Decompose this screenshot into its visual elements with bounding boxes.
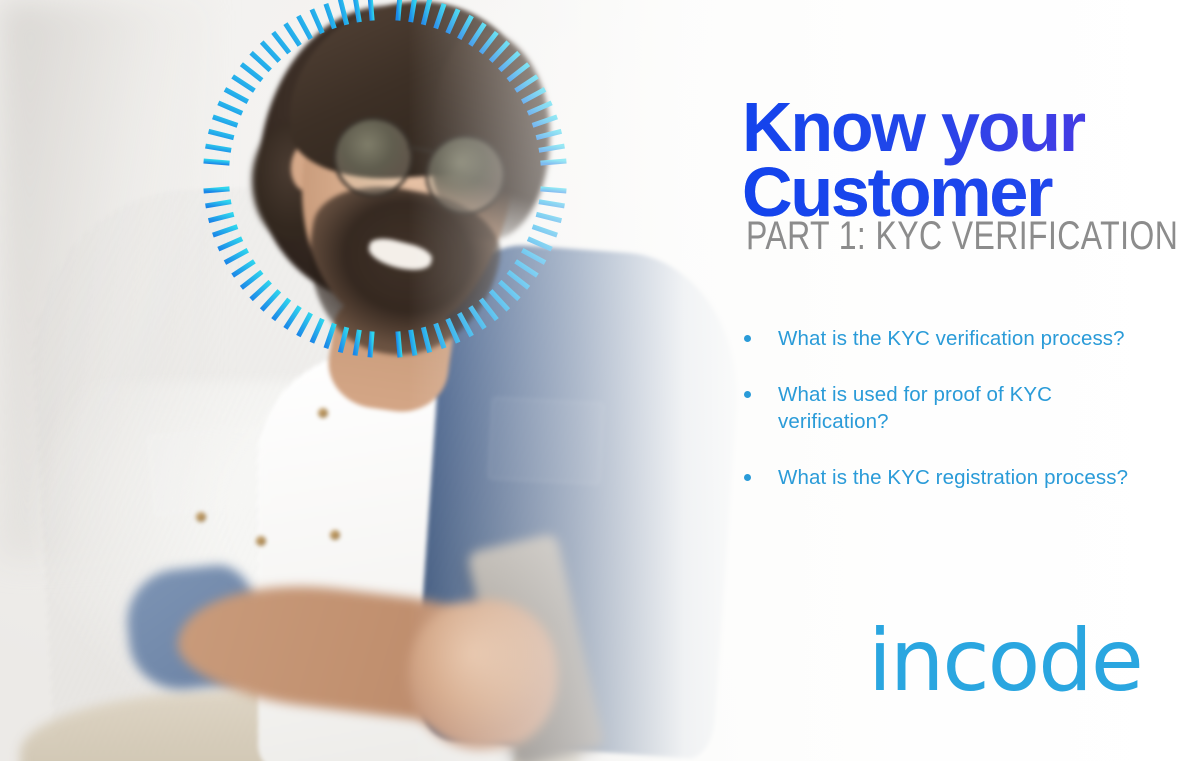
photo-subject-jacket-button: [256, 536, 266, 546]
photo-subject-jacket-pocket-left: [147, 425, 266, 516]
photo-subject-person: [0, 0, 700, 761]
glasses-lens-right: [418, 128, 512, 222]
list-item: What is the KYC verification process?: [738, 325, 1138, 353]
list-item: What is used for proof of KYC verificati…: [738, 381, 1138, 436]
content-panel: Know your Customer PART 1: KYC VERIFICAT…: [738, 0, 1200, 761]
slide-canvas: Know your Customer PART 1: KYC VERIFICAT…: [0, 0, 1200, 761]
photo-subject-jacket-pocket-right: [488, 397, 604, 485]
photo-subject-jacket-button: [330, 530, 340, 540]
glasses-lens-left: [326, 110, 420, 204]
question-list: What is the KYC verification process? Wh…: [738, 325, 1138, 520]
list-item: What is the KYC registration process?: [738, 464, 1138, 492]
photo-subject-jacket-button: [318, 408, 328, 418]
incode-logo: incode: [868, 618, 1142, 704]
page-subtitle: PART 1: KYC VERIFICATION: [746, 216, 1178, 256]
photo-subject-jacket-button: [196, 512, 206, 522]
page-title: Know your Customer: [742, 95, 1200, 225]
